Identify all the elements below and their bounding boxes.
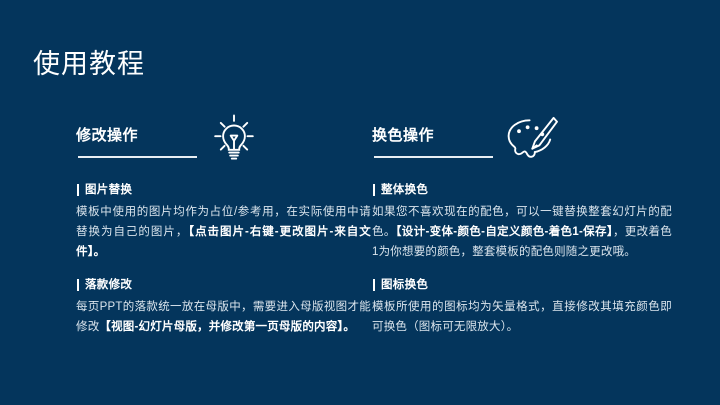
sub-title-image-replace: 图片替换 <box>76 182 381 198</box>
section-header-recolor: 换色操作 <box>372 108 677 166</box>
sub-body-text-bold: 【设计-变体-颜色-自定义颜色-着色1-保存】 <box>396 226 613 238</box>
lightbulb-icon <box>201 110 267 166</box>
section-divider-recolor <box>374 156 493 158</box>
section-divider-modify <box>78 156 197 158</box>
column-modify: 修改操作 <box>76 108 381 337</box>
sub-block-overall-recolor: 整体换色 如果您不喜欢现在的配色，可以一键替换整套幻灯片的配色。【设计-变体-颜… <box>372 182 677 262</box>
sub-body-icon-recolor: 模板所使用的图标均为矢量格式，直接修改其填充颜色即可换色（图标可无限放大）。 <box>372 297 672 337</box>
section-title-recolor: 换色操作 <box>372 126 434 146</box>
section-header-modify: 修改操作 <box>76 108 381 166</box>
sub-body-image-replace: 模板中使用的图片均作为占位/参考用，在实际使用中请替换为自己的图片，【点击图片-… <box>76 202 371 262</box>
sub-title-signature-edit: 落款修改 <box>76 277 381 293</box>
palette-icon <box>496 112 562 168</box>
sub-body-signature-edit: 每页PPT的落款统一放在母版中，需要进入母版视图才能修改【视图-幻灯片母版，并修… <box>76 297 371 337</box>
section-title-modify: 修改操作 <box>76 126 138 146</box>
sub-body-text-bold: 【视图-幻灯片母版，并修改第一页母版的内容】。 <box>99 321 355 333</box>
column-recolor: 换色操作 <box>372 108 677 337</box>
sub-title-icon-recolor: 图标换色 <box>372 277 677 293</box>
sub-body-text-plain: 模板所使用的图标均为矢量格式，直接修改其填充颜色即可换色（图标可无限放大）。 <box>372 301 672 333</box>
sub-title-overall-recolor: 整体换色 <box>372 182 677 198</box>
slide-canvas: 使用教程 修改操作 <box>0 0 720 405</box>
sub-block-image-replace: 图片替换 模板中使用的图片均作为占位/参考用，在实际使用中请替换为自己的图片，【… <box>76 182 381 262</box>
sub-block-signature-edit: 落款修改 每页PPT的落款统一放在母版中，需要进入母版视图才能修改【视图-幻灯片… <box>76 277 381 337</box>
sub-block-icon-recolor: 图标换色 模板所使用的图标均为矢量格式，直接修改其填充颜色即可换色（图标可无限放… <box>372 277 677 337</box>
page-title: 使用教程 <box>33 47 145 81</box>
content-columns: 修改操作 <box>0 108 720 368</box>
sub-body-overall-recolor: 如果您不喜欢现在的配色，可以一键替换整套幻灯片的配色。【设计-变体-颜色-自定义… <box>372 202 672 262</box>
